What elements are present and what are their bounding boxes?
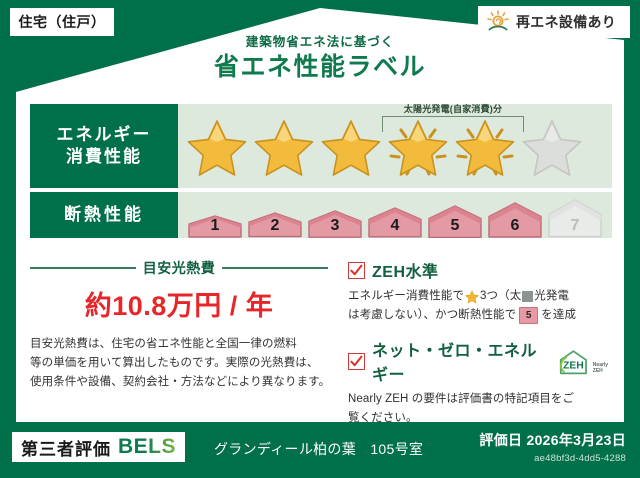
- insulation-chip-filled: 2: [246, 211, 304, 238]
- insulation-level-inline-chip: 5: [519, 307, 538, 324]
- utility-cost-heading: 目安光熱費: [30, 258, 328, 278]
- check-icon: [348, 353, 365, 370]
- zeh-standard-line-2: は考慮しない）、かつ断熱性能で 5 を達成: [348, 306, 616, 325]
- insulation-chip-number: 7: [546, 217, 604, 235]
- zeh-logo-sub: Nearly ZEH: [593, 362, 616, 376]
- star-filled: [385, 110, 451, 182]
- net-zero-body: Nearly ZEH の要件は評価書の特記項目をご 覧ください。: [348, 390, 616, 428]
- zeh-line2-text-b: を達成: [541, 306, 576, 325]
- zeh-section: ZEH水準 エネルギー消費性能で 3つ（太 光発電 は考慮しない）、かつ断熱性能…: [348, 258, 616, 418]
- insulation-chip-number: 5: [426, 217, 484, 235]
- energy-category-line2: 消費性能: [66, 146, 142, 168]
- zeh-line1-text-b: 3つ（太: [480, 287, 521, 306]
- insulation-rating-area: 1 2 3 4 5 6 7: [178, 192, 612, 238]
- zeh-line1-text-c: 光発電: [534, 287, 569, 306]
- note-line-3: 使用条件や設備、契約会社・方法などにより異なります。: [30, 373, 326, 392]
- bels-ja-label: 第三者評価: [21, 435, 111, 460]
- insulation-chip-number: 6: [486, 217, 544, 235]
- zeh-logo: ZEH Nearly ZEH: [556, 347, 616, 376]
- net-zero-title-row: ネット・ゼロ・エネルギー ZEH Nearly ZEH: [348, 337, 616, 385]
- insulation-chip-filled: 6: [486, 201, 544, 238]
- utility-cost-section: 目安光熱費 約10.8万円 / 年 目安光熱費は、住宅の省エネ性能と全国一律の燃…: [30, 258, 330, 418]
- evaluation-date: 評価日 2026年3月23日: [479, 430, 626, 450]
- insulation-chip-number: 4: [366, 217, 424, 235]
- mini-star-icon: [465, 290, 479, 304]
- star-filled: [251, 110, 317, 182]
- performance-panel: エネルギー 消費性能 太陽光発電(自家消費)分: [30, 104, 612, 256]
- star-filled: [452, 110, 518, 182]
- property-name: グランディール柏の葉 105号室: [214, 439, 423, 459]
- net-zero-line-1: Nearly ZEH の要件は評価書の特記項目をご: [348, 390, 616, 409]
- insulation-level-chips: 1 2 3 4 5 6 7: [186, 192, 606, 238]
- insulation-chip-filled: 4: [366, 206, 424, 238]
- svg-text:ZEH: ZEH: [563, 360, 584, 371]
- zeh-house-icon: ZEH: [556, 347, 591, 376]
- insulation-chip-filled: 1: [186, 214, 244, 238]
- star-empty: [519, 110, 585, 182]
- zeh-standard-title: ZEH水準: [372, 258, 439, 282]
- renewable-badge-label: 再エネ設備あり: [516, 12, 616, 32]
- energy-category-label: エネルギー 消費性能: [30, 104, 178, 188]
- utility-cost-value: 約10.8万円 / 年: [30, 284, 328, 323]
- insulation-chip-empty: 7: [546, 198, 604, 238]
- heading-rule-right: [222, 267, 328, 269]
- insulation-chip-number: 2: [246, 217, 304, 235]
- label-footer: 第三者評価 BELS グランディール柏の葉 105号室 評価日 2026年3月2…: [0, 424, 640, 478]
- zeh-standard-body: エネルギー消費性能で 3つ（太 光発電 は考慮しない）、かつ断熱性能で 5 を達…: [348, 287, 616, 325]
- net-zero-title: ネット・ゼロ・エネルギー: [372, 337, 545, 385]
- zeh-line2-text-a: は考慮しない）、かつ断熱性能で: [348, 306, 516, 325]
- insulation-chip-number: 1: [186, 217, 244, 235]
- bels-en-label: BELS: [118, 435, 176, 459]
- check-icon: [348, 262, 365, 279]
- energy-performance-label: 住宅（住戸） 再エネ設備あり 建築物省: [0, 0, 640, 478]
- zeh-line1-text-a: エネルギー消費性能で: [348, 287, 464, 306]
- note-line-2: 等の単価を用いて算出したものです。実際の光熱費は、: [30, 354, 326, 373]
- utility-cost-heading-label: 目安光熱費: [143, 258, 216, 278]
- insulation-chip-number: 3: [306, 217, 364, 235]
- house-type-badge: 住宅（住戸）: [10, 8, 114, 36]
- redacted-block: [522, 291, 533, 302]
- utility-cost-note: 目安光熱費は、住宅の省エネ性能と全国一律の燃料 等の単価を用いて算出したものです…: [30, 335, 326, 392]
- evaluation-id: ae48bf3d-4dd5-4288: [479, 453, 626, 464]
- energy-star-rating: [184, 104, 586, 188]
- insulation-chip-filled: 5: [426, 204, 484, 238]
- note-line-1: 目安光熱費は、住宅の省エネ性能と全国一律の燃料: [30, 335, 326, 354]
- insulation-performance-row: 断熱性能 1 2 3 4 5 6: [30, 192, 612, 238]
- energy-performance-row: エネルギー 消費性能 太陽光発電(自家消費)分: [30, 104, 612, 188]
- net-zero-energy-block: ネット・ゼロ・エネルギー ZEH Nearly ZEH Nearly ZEH の…: [348, 337, 616, 428]
- evaluation-info: 評価日 2026年3月23日 ae48bf3d-4dd5-4288: [479, 430, 626, 464]
- heading-rule-left: [30, 267, 136, 269]
- insulation-category-label: 断熱性能: [30, 192, 178, 238]
- energy-category-line1: エネルギー: [57, 124, 152, 146]
- label-title: 建築物省エネ法に基づく 省エネ性能ラベル: [0, 34, 640, 100]
- bels-badge: 第三者評価 BELS: [12, 432, 185, 462]
- star-filled: [318, 110, 384, 182]
- insulation-chip-filled: 3: [306, 209, 364, 238]
- zeh-standard-line-1: エネルギー消費性能で 3つ（太 光発電: [348, 287, 616, 306]
- star-filled: [184, 110, 250, 182]
- energy-rating-area: 太陽光発電(自家消費)分: [178, 104, 612, 188]
- label-header: 住宅（住戸） 再エネ設備あり 建築物省: [0, 0, 640, 100]
- title-main: 省エネ性能ラベル: [0, 52, 640, 82]
- sun-solar-icon: [485, 10, 511, 34]
- title-subtitle: 建築物省エネ法に基づく: [0, 34, 640, 50]
- zeh-standard-title-row: ZEH水準: [348, 258, 616, 282]
- zeh-standard-block: ZEH水準 エネルギー消費性能で 3つ（太 光発電 は考慮しない）、かつ断熱性能…: [348, 258, 616, 325]
